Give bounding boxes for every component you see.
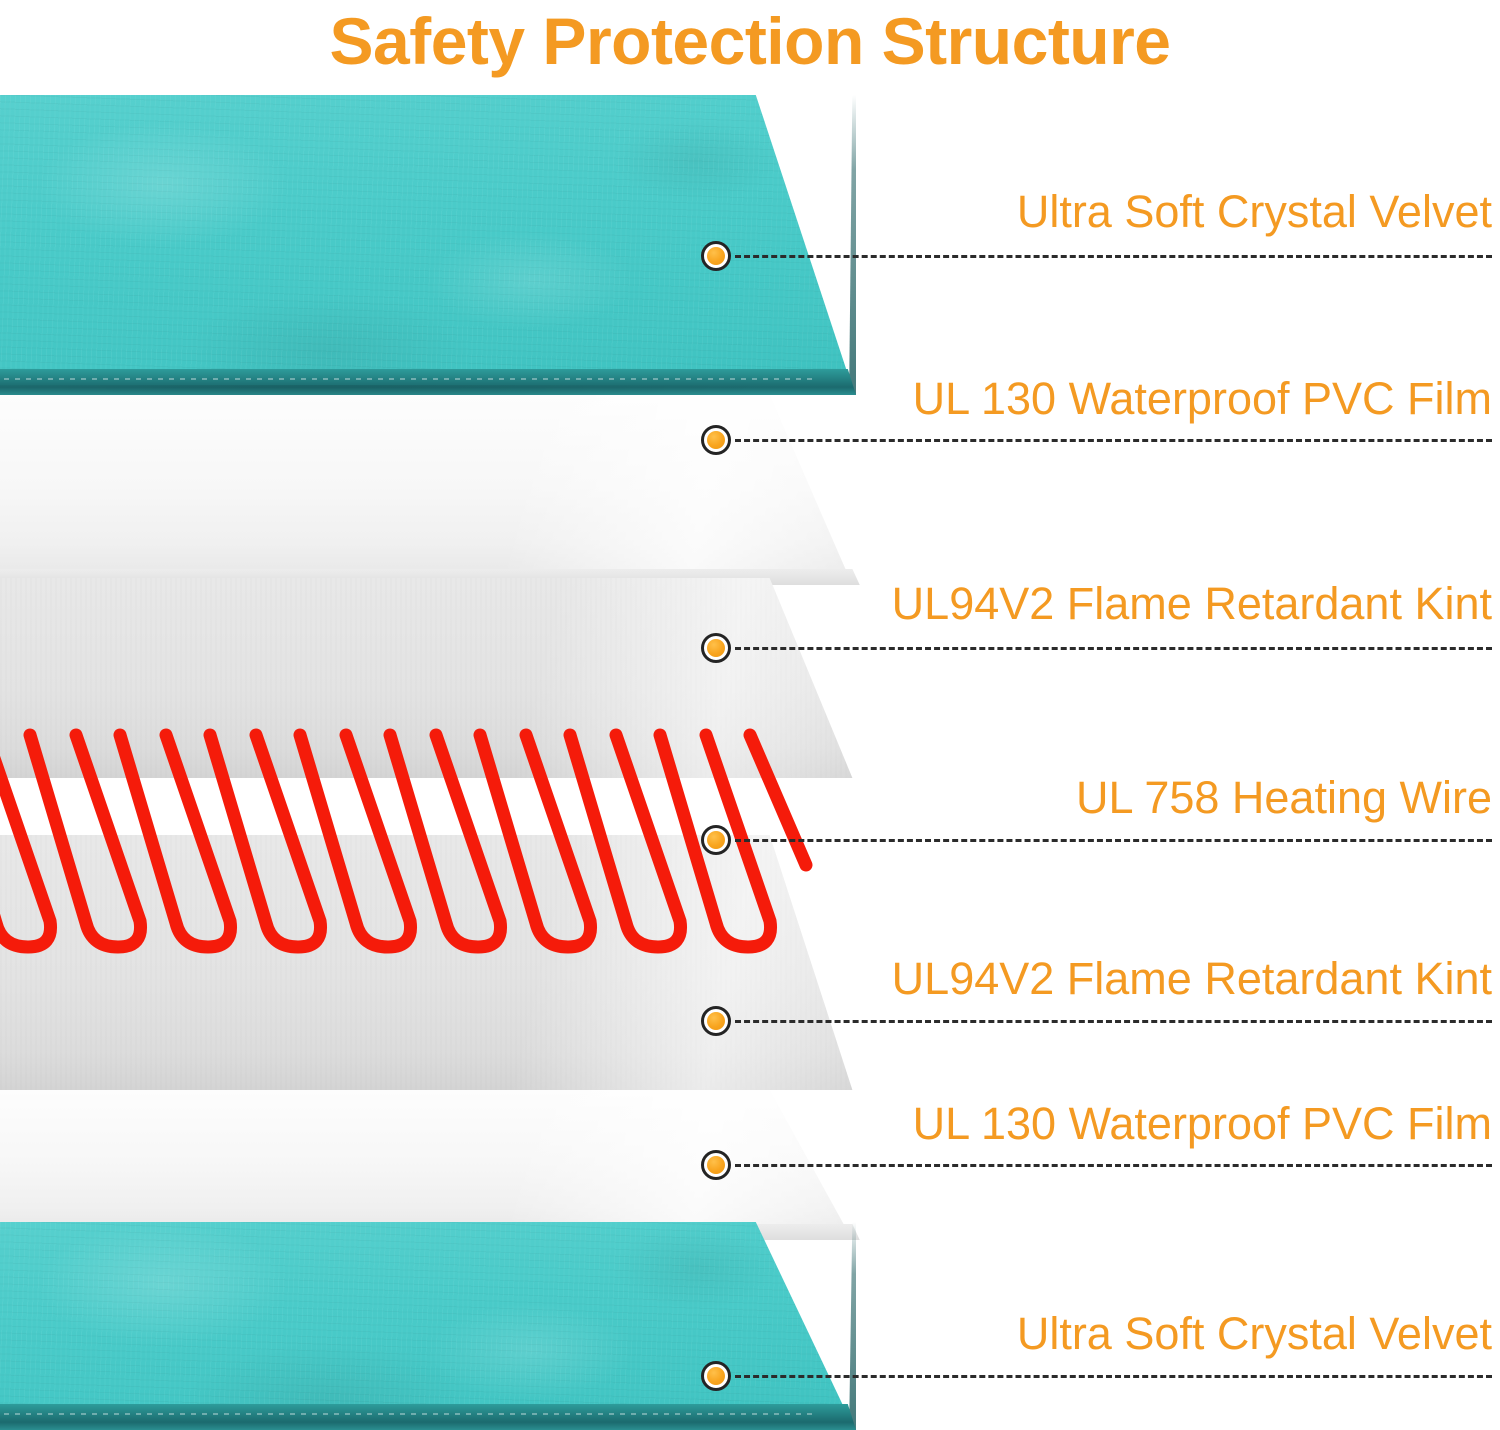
knit-sheen: [0, 835, 880, 1090]
velvet-grain-texture: [0, 95, 880, 395]
velvet-hem-band: [0, 1404, 880, 1430]
layer-graphic-top-pvc-film: [0, 395, 880, 585]
callout-label-bottom-velvet: Ultra Soft Crystal Velvet: [1017, 1308, 1492, 1360]
callout-marker-dot[interactable]: [701, 1006, 731, 1036]
callout-leader-line: [735, 255, 1492, 258]
callout-label-top-velvet: Ultra Soft Crystal Velvet: [1017, 186, 1492, 238]
knit-sheen: [0, 578, 880, 778]
callout-leader-line: [735, 1020, 1492, 1023]
callout-marker-dot[interactable]: [701, 1150, 731, 1180]
callout-label-heating-wire: UL 758 Heating Wire: [1076, 772, 1492, 824]
callout-leader-line: [735, 1164, 1492, 1167]
layer-graphic-bottom-flame-retardant-knit: [0, 835, 880, 1090]
callout-leader-line: [735, 439, 1492, 442]
velvet-grain-texture: [0, 1222, 880, 1430]
velvet-hem-stitching: [0, 1413, 816, 1415]
callout-leader-line: [735, 1375, 1492, 1378]
callout-leader-line: [735, 647, 1492, 650]
callout-marker-dot[interactable]: [701, 1361, 731, 1391]
layer-graphic-top-flame-retardant-knit: [0, 578, 880, 778]
callout-label-bottom-knit: UL94V2 Flame Retardant Kint: [892, 953, 1492, 1005]
callout-marker-dot[interactable]: [701, 425, 731, 455]
callout-marker-dot[interactable]: [701, 825, 731, 855]
callout-marker-dot[interactable]: [701, 633, 731, 663]
callout-leader-line: [735, 839, 1492, 842]
velvet-side-edge: [849, 1222, 856, 1430]
pvc-film-sheen: [0, 395, 880, 585]
safety-protection-structure-infographic: Safety Protection Structure: [0, 0, 1500, 1430]
velvet-side-edge: [849, 95, 856, 395]
callout-label-top-pvc-film: UL 130 Waterproof PVC Film: [913, 373, 1492, 425]
callout-label-top-knit: UL94V2 Flame Retardant Kint: [892, 578, 1492, 630]
layer-graphic-bottom-velvet: [0, 1222, 880, 1430]
layer-graphic-top-velvet: [0, 95, 880, 395]
velvet-hem-stitching: [0, 378, 816, 380]
callout-marker-dot[interactable]: [701, 241, 731, 271]
callout-label-bottom-pvc-film: UL 130 Waterproof PVC Film: [913, 1098, 1492, 1150]
